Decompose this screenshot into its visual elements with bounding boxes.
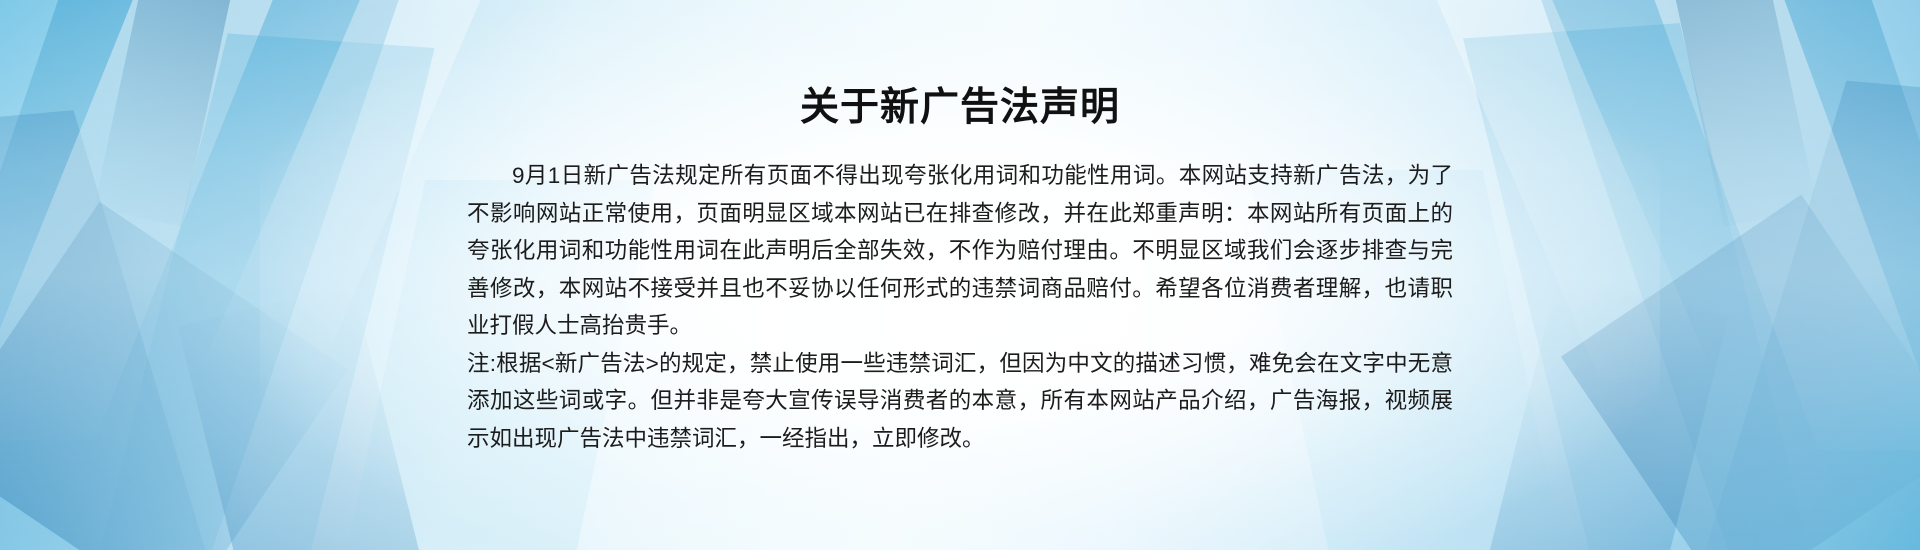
statement-paragraph-1: 9月1日新广告法规定所有页面不得出现夸张化用词和功能性用词。本网站支持新广告法，… [467, 157, 1453, 345]
statement-paragraph-2: 注:根据<新广告法>的规定，禁止使用一些违禁词汇，但因为中文的描述习惯，难免会在… [467, 345, 1453, 458]
page-title: 关于新广告法声明 [0, 88, 1920, 127]
statement-content: 关于新广告法声明 9月1日新广告法规定所有页面不得出现夸张化用词和功能性用词。本… [0, 0, 1920, 550]
advertising-law-statement-banner: 关于新广告法声明 9月1日新广告法规定所有页面不得出现夸张化用词和功能性用词。本… [0, 0, 1920, 550]
statement-body: 9月1日新广告法规定所有页面不得出现夸张化用词和功能性用词。本网站支持新广告法，… [467, 157, 1453, 457]
